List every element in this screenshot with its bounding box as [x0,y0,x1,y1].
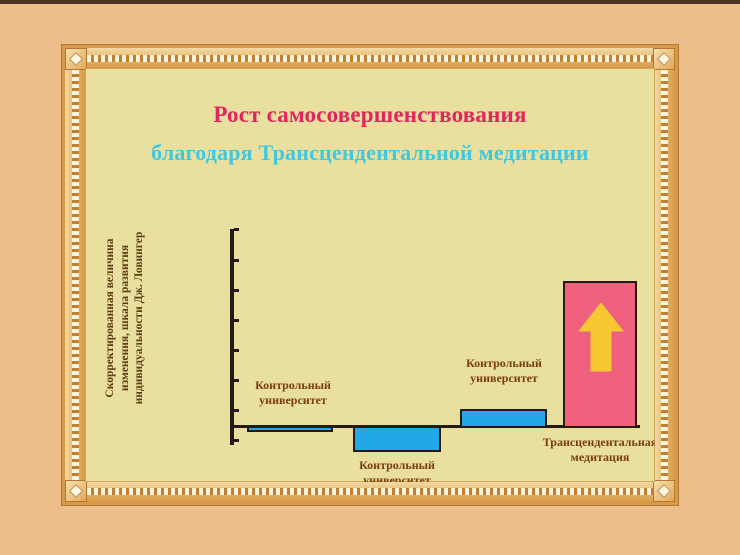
y-tick-mark [234,259,239,262]
corner-ornament-bottom-left [65,480,87,502]
bar-label-line-1: Контрольный [359,458,435,472]
bar-label-line-2: университет [259,393,327,407]
bar-label-line-1: Трансцендентальная [543,435,655,449]
y-axis-title-line-1: Скорректированная величина [104,238,116,397]
bar-transcendental-meditation [563,281,637,428]
corner-ornament-bottom-right [653,480,675,502]
bar-label-control-university-2: Контрольный университет [334,458,460,482]
y-axis-title: Скорректированная величина изменения, шк… [103,213,177,423]
y-tick-mark [234,349,239,352]
bar-label-line-2: университет [363,473,431,482]
bar-label-line-2: медитация [571,450,630,464]
y-tick-mark [234,409,239,412]
bead-pattern-top [87,55,653,62]
bar-label-transcendental-meditation: Трансцендентальная медитация [517,435,655,464]
y-tick-mark [234,228,239,231]
bar-label-line-2: университет [470,371,538,385]
bar-chart: Скорректированная величина изменения, шк… [85,68,655,482]
bar-label-line-1: Контрольный [466,356,542,370]
bead-pattern-left [72,70,79,480]
bar-control-university-1 [247,426,333,432]
bead-pattern-bottom [87,488,653,495]
ornamental-frame: Рост самосовершенствования благодаря Тра… [62,45,678,505]
corner-ornament-top-right [653,48,675,70]
bar-label-control-university-1: Контрольный университет [230,378,356,407]
bar-control-university-2 [353,426,441,452]
bar-label-control-university-3: Контрольный университет [441,356,567,385]
poster-panel: Рост самосовершенствования благодаря Тра… [85,68,655,482]
corner-ornament-top-left [65,48,87,70]
y-tick-mark [234,289,239,292]
bar-label-line-1: Контрольный [255,378,331,392]
bead-pattern-right [661,70,668,480]
y-tick-mark [234,439,239,442]
y-axis-title-line-3: индивидуальности Дж. Ловингер [133,232,145,405]
top-border-edge [0,0,740,4]
y-tick-mark [234,319,239,322]
up-arrow-icon [578,301,624,373]
y-axis-title-line-2: изменения, шкала развития [119,245,131,391]
bar-control-university-3 [460,409,547,428]
